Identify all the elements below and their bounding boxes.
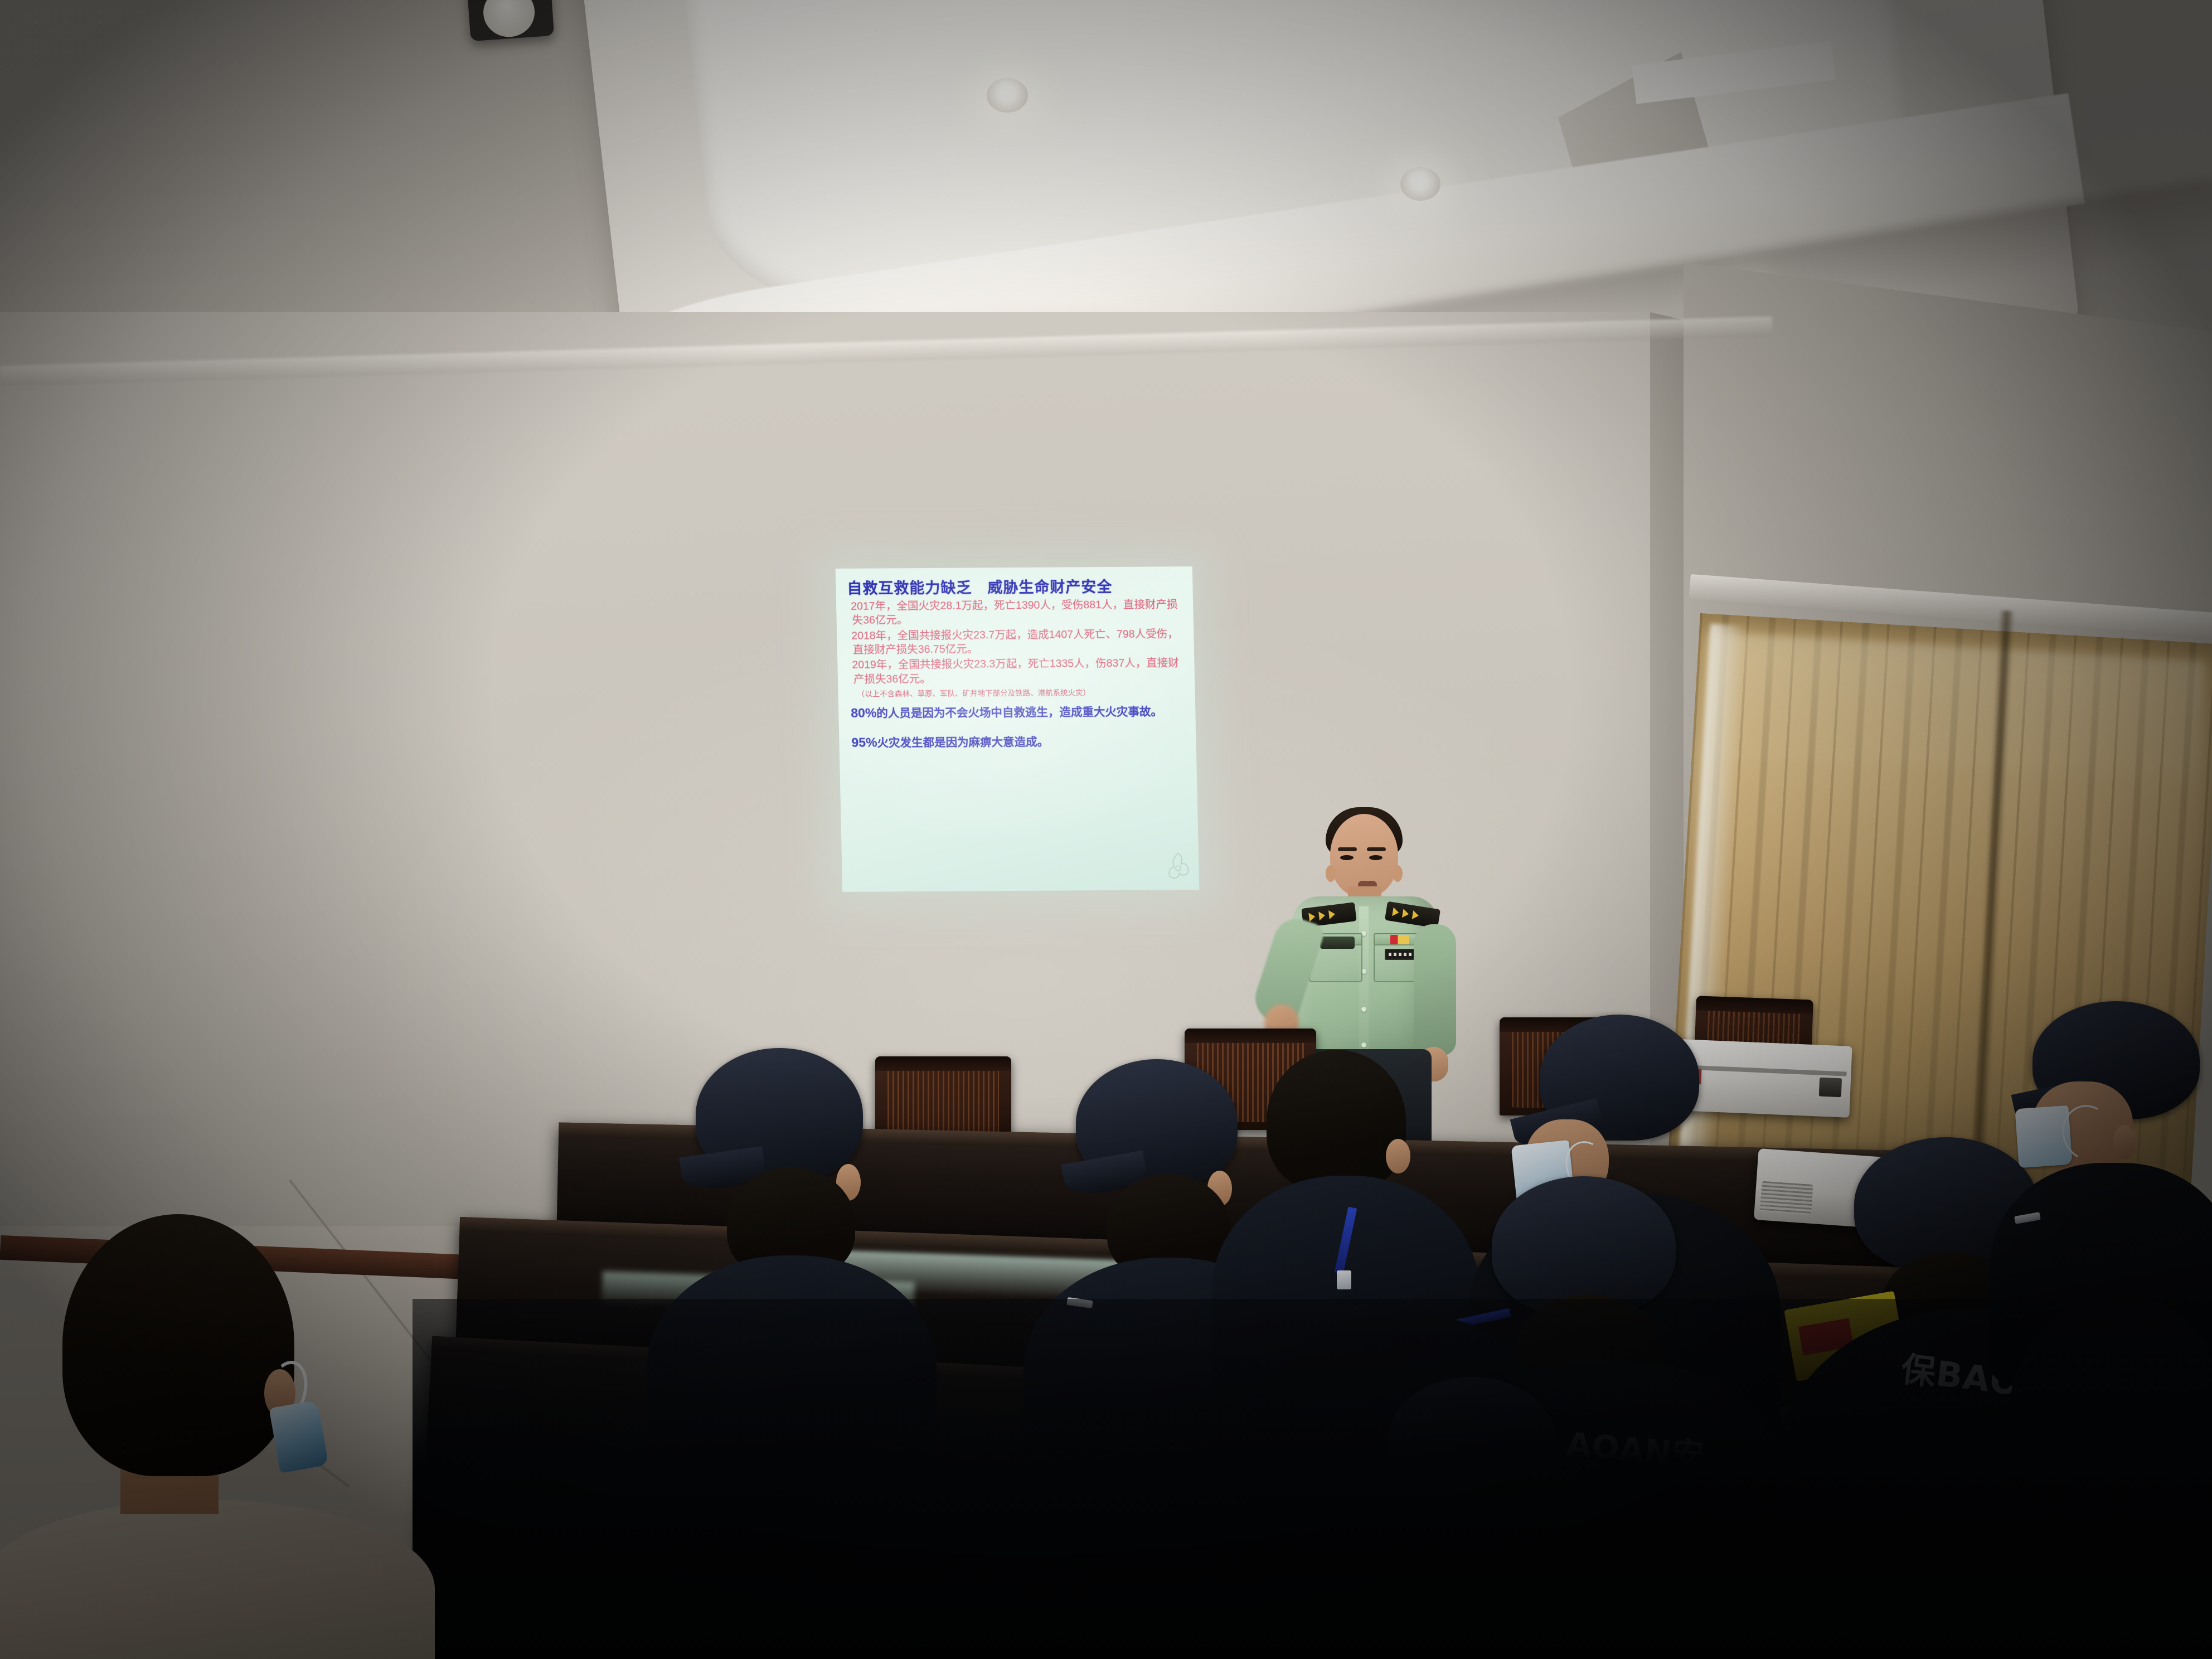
- presenter-brow-right: [1367, 847, 1386, 851]
- downlight-icon: [1400, 167, 1440, 201]
- slide-stat-2018: 2018年，全国共接报火灾23.7万起，造成1407人死亡、798人受伤，直接财…: [852, 627, 1185, 657]
- wall-clock-icon: [466, 0, 554, 41]
- slide-stat-2019: 2019年，全国共接报火灾23.3万起，死亡1335人，伤837人，直接财产损失…: [853, 657, 1186, 687]
- id-badge: [1337, 1270, 1351, 1289]
- presenter-arm-right: [1414, 924, 1456, 1056]
- slide-emphasis-95: 95%火灾发生都是因为麻痹大意造成。: [851, 733, 1187, 751]
- slide-emphasis-95-text: 火灾发生都是因为麻痹大意造成。: [877, 736, 1049, 750]
- presenter-ear-left: [1326, 865, 1336, 882]
- projection-screen[interactable]: 自救互救能力缺乏 威胁生命财产安全 2017年，全国火灾28.1万起，死亡139…: [836, 566, 1200, 892]
- slide-emphasis-80: 80%的人员是因为不会火场中自救逃生，造成重大火灾事故。: [851, 703, 1187, 721]
- slide-footnote: （以上不含森林、草原、军队、矿井地下部分及铁路、港航系统火灾）: [857, 688, 1186, 699]
- leaf-emblem-watermark-icon: [1165, 852, 1191, 881]
- slide-emphasis-95-pct: 95%: [851, 735, 877, 750]
- presenter-brow-left: [1338, 847, 1357, 851]
- civilian-head: [62, 1214, 294, 1476]
- foreground-shadow-mass: [413, 1299, 2212, 1659]
- slide-emphasis-80-pct: 80%: [851, 706, 877, 720]
- presenter-shirt-placket: [1359, 906, 1369, 1061]
- slide-title: 自救互救能力缺乏 威胁生命财产安全: [847, 574, 1184, 598]
- conference-room-scene: 自救互救能力缺乏 威胁生命财产安全 2017年，全国火灾28.1万起，死亡139…: [0, 0, 2212, 1659]
- downlight-icon: [987, 78, 1028, 113]
- presenter-eye-right: [1369, 855, 1382, 860]
- presenter-eye-left: [1340, 855, 1354, 860]
- attendee-ear: [1386, 1139, 1410, 1173]
- presenter-button: [1361, 1007, 1366, 1012]
- presenter-shoulder-patch: [1320, 937, 1355, 949]
- attendee-right-guard-g: [2001, 998, 2212, 1343]
- presenter-flag-badge-icon: [1390, 935, 1409, 944]
- slide-surface: 自救互救能力缺乏 威胁生命财产安全 2017年，全国火灾28.1万起，死亡139…: [836, 566, 1200, 892]
- attendee-head: [1267, 1050, 1406, 1192]
- presenter-ear-right: [1393, 865, 1403, 882]
- slide-stat-2017: 2017年，全国火灾28.1万起，死亡1390人，受伤881人，直接财产损失36…: [852, 598, 1185, 628]
- slide-emphasis-80-text: 的人员是因为不会火场中自救逃生，造成重大火灾事故。: [876, 706, 1162, 720]
- attendee-ear: [2113, 1125, 2136, 1160]
